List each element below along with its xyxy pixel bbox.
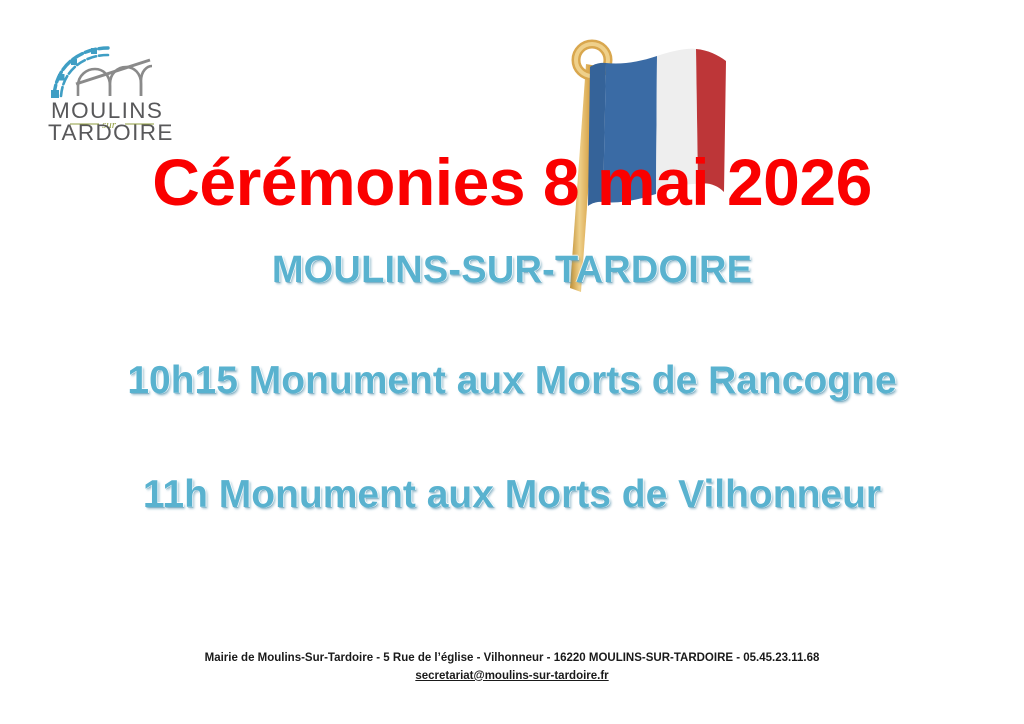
- poster-title: Cérémonies 8 mai 2026: [0, 148, 1024, 218]
- event-line-1: 10h15 Monument aux Morts de Rancogne: [0, 359, 1024, 403]
- logo-text-tardoire: TARDOIRE: [48, 120, 174, 142]
- footer-contact: Mairie de Moulins-Sur-Tardoire - 5 Rue d…: [0, 650, 1024, 684]
- municipality-logo: MOULINS sur TARDOIRE: [46, 44, 182, 142]
- poster-subtitle: MOULINS-SUR-TARDOIRE: [0, 249, 1024, 292]
- poster-canvas: MOULINS sur TARDOIRE: [0, 0, 1024, 724]
- logo-bridge-icon: [51, 48, 152, 98]
- event-line-2: 11h Monument aux Morts de Vilhonneur: [0, 473, 1024, 517]
- footer-email-link[interactable]: secretariat@moulins-sur-tardoire.fr: [415, 668, 608, 685]
- footer-address: Mairie de Moulins-Sur-Tardoire - 5 Rue d…: [0, 650, 1024, 667]
